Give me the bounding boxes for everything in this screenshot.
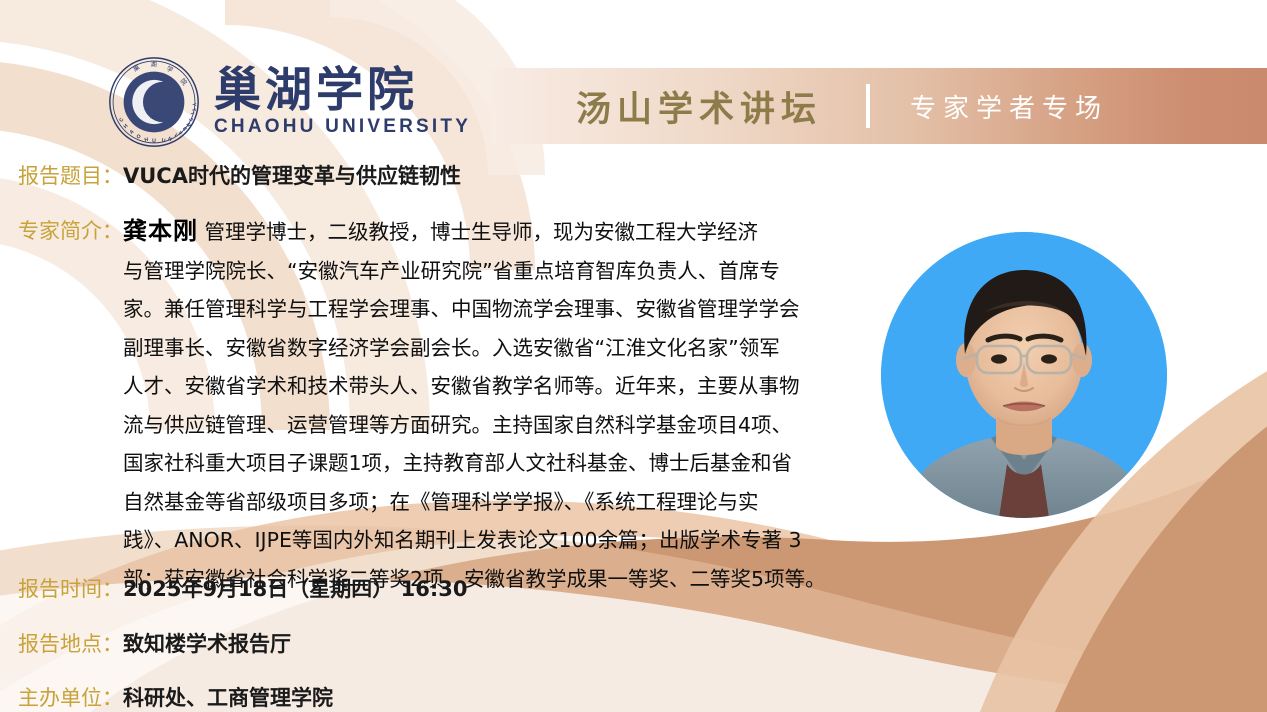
host-row: 主办单位： 科研处、工商管理学院: [18, 682, 333, 712]
svg-text:学: 学: [165, 64, 175, 75]
logo-name-cn: 巢湖学院: [214, 66, 471, 115]
svg-text:H: H: [144, 137, 149, 144]
svg-text:湖: 湖: [150, 59, 156, 68]
host-value: 科研处、工商管理学院: [123, 682, 333, 712]
place-label: 报告地点：: [18, 628, 123, 658]
bio-row: 专家简介： 龚本刚 管理学博士，二级教授，博士生导师，现为安徽工程大学经济 与管…: [18, 212, 839, 598]
bio-label: 专家简介：: [18, 212, 123, 251]
host-label: 主办单位：: [18, 682, 123, 712]
bio-body: 龚本刚 管理学博士，二级教授，博士生导师，现为安徽工程大学经济 与管理学院院长、…: [123, 212, 839, 598]
bio-line: 流与供应链管理、运营管理等方面研究。主持国家自然科学基金项目4项、: [123, 406, 839, 445]
topic-label: 报告题目：: [18, 160, 123, 190]
logo-wordmark: 巢湖学院 CHAOHU UNIVERSITY: [214, 66, 471, 138]
chaohu-university-seal-icon: 1977 巢 湖 学 院 C H A O H U U N I V E R S: [108, 56, 200, 148]
svg-text:1977: 1977: [149, 115, 159, 120]
lecture-poster: 汤山学术讲坛 专家学者专场 1977 巢 湖 学 院 C H A O: [0, 0, 1267, 712]
bio-line: 龚本刚 管理学博士，二级教授，博士生导师，现为安徽工程大学经济: [123, 212, 839, 252]
topic-value: VUCA时代的管理变革与供应链韧性: [123, 160, 461, 190]
banner-title: 汤山学术讲坛: [576, 81, 822, 132]
place-value: 致知楼学术报告厅: [123, 628, 291, 658]
speaker-portrait: [881, 232, 1167, 518]
svg-text:I: I: [189, 112, 195, 115]
logo-name-en: CHAOHU UNIVERSITY: [214, 116, 471, 138]
svg-text:U: U: [152, 138, 156, 144]
banner-divider: [866, 84, 870, 128]
bio-line: 自然基金等省部级项目多项；在《管理科学学报》、《系统工程理论与实: [123, 483, 839, 522]
banner-subtitle: 专家学者专场: [910, 88, 1108, 125]
portrait-image: [881, 232, 1167, 518]
svg-text:O: O: [136, 134, 142, 141]
bio-line: 国家社科重大项目子课题1项，主持教育部人文社科基金、博士后基金和省: [123, 444, 839, 483]
header-banner: 汤山学术讲坛 专家学者专场: [490, 68, 1267, 144]
svg-text:Y: Y: [191, 103, 197, 107]
speaker-name: 龚本刚: [123, 217, 198, 245]
svg-text:C: C: [118, 117, 125, 124]
bio-line: 与管理学院院长、“安徽汽车产业研究院”省重点培育智库负责人、首席专: [123, 252, 839, 291]
bio-line: 人才、安徽省学术和技术带头人、安徽省教学名师等。近年来，主要从事物: [123, 367, 839, 406]
time-label: 报告时间：: [18, 573, 123, 603]
topic-row: 报告题目： VUCA时代的管理变革与供应链韧性: [18, 160, 461, 190]
bio-line: 家。兼任管理科学与工程学会理事、中国物流学会理事、安徽省管理学学会: [123, 290, 839, 329]
university-logo: 1977 巢 湖 学 院 C H A O H U U N I V E R S: [108, 54, 478, 150]
bio-line: 副理事长、安徽省数字经济学会副会长。入选安徽省“江淮文化名家”领军: [123, 329, 839, 368]
time-value: 2025年9月18日（星期四） 16:30: [123, 573, 467, 603]
time-row: 报告时间： 2025年9月18日（星期四） 16:30: [18, 573, 467, 603]
bio-line-text: 管理学博士，二级教授，博士生导师，现为安徽工程大学经济: [198, 220, 758, 244]
bio-line: 践》、ANOR、IJPE等国内外知名期刊上发表论文100余篇；出版学术专著 3: [123, 521, 839, 560]
place-row: 报告地点： 致知楼学术报告厅: [18, 628, 291, 658]
svg-text:院: 院: [178, 76, 189, 87]
